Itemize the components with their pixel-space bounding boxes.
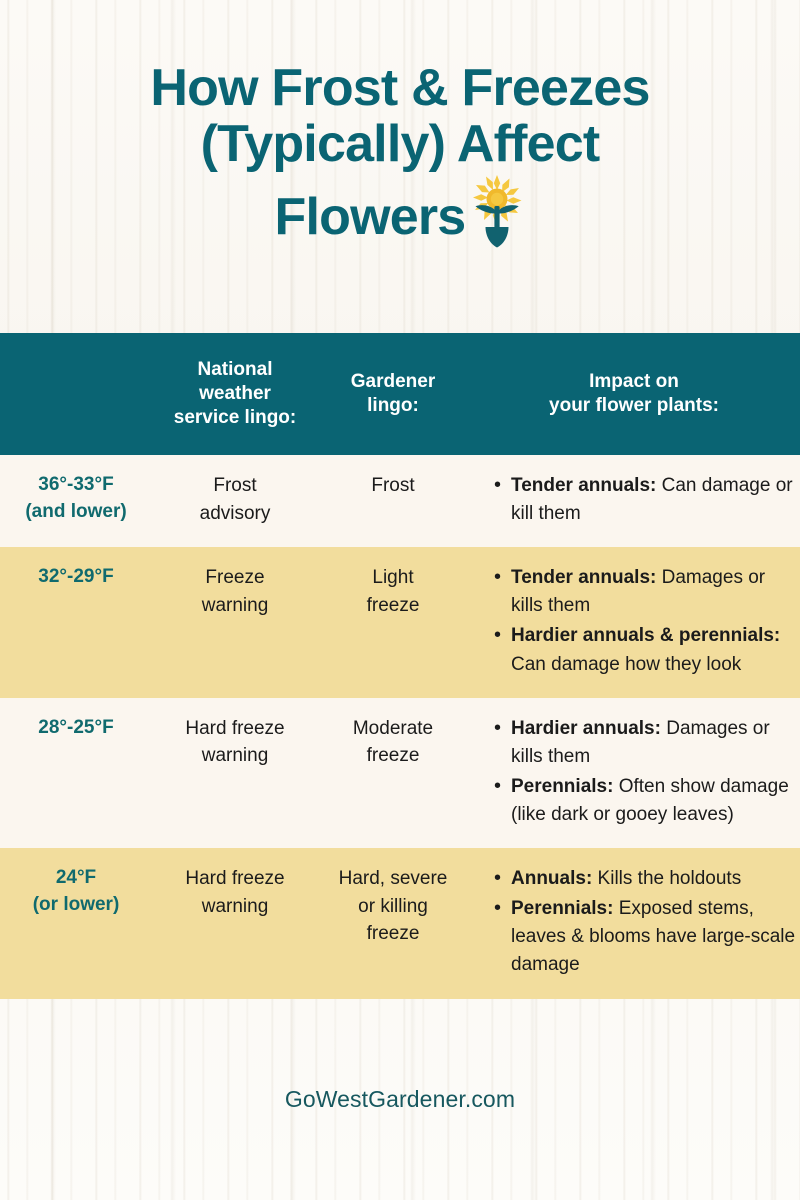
nws-line: advisory (156, 500, 314, 528)
nws-line: warning (156, 893, 314, 921)
impact-list: Tender annuals: Damages or kills them Ha… (472, 564, 796, 678)
nws-line: warning (156, 592, 314, 620)
nws-line: warning (156, 742, 314, 770)
header-line: National (156, 358, 314, 382)
cell-impact: Tender annuals: Can damage or kill them (468, 472, 800, 530)
table-header-row: National weather service lingo: Gardener… (0, 333, 800, 455)
header-line: lingo: (322, 394, 464, 418)
gardener-line: Light (322, 564, 464, 592)
impact-detail: Kills the holdouts (592, 868, 741, 889)
impact-list: Annuals: Kills the holdouts Perennials: … (472, 865, 796, 979)
temperature-line: 24°F (4, 865, 148, 892)
header-line: Gardener (322, 370, 464, 394)
gardener-line: freeze (322, 592, 464, 620)
gardener-line: freeze (322, 742, 464, 770)
nws-line: Hard freeze (156, 865, 314, 893)
list-item: Annuals: Kills the holdouts (494, 865, 796, 893)
header-line: service lingo: (156, 406, 314, 430)
temperature-line: 28°-25°F (4, 715, 148, 742)
sunflower-trowel-icon (471, 172, 525, 259)
cell-temperature: 28°-25°F (0, 715, 152, 742)
list-item: Hardier annuals: Damages or kills them (494, 715, 796, 771)
cell-gardener-lingo: Hard, severe or killing freeze (318, 865, 468, 948)
impact-term: Annuals: (511, 868, 592, 889)
temperature-note: (and lower) (4, 499, 148, 526)
list-item: Perennials: Often show damage (like dark… (494, 773, 796, 829)
site-credit: GoWestGardener.com (285, 1086, 515, 1113)
header-line: Impact on (472, 370, 796, 394)
header-cell-gardener-lingo: Gardener lingo: (318, 370, 468, 419)
cell-impact: Hardier annuals: Damages or kills them P… (468, 715, 800, 831)
frost-effects-table: National weather service lingo: Gardener… (0, 333, 800, 999)
title-area: How Frost & Freezes (Typically) Affect F… (0, 0, 800, 333)
list-item: Tender annuals: Damages or kills them (494, 564, 796, 620)
title-line-1: How Frost & Freezes (150, 59, 649, 117)
impact-term: Hardier annuals & perennials: (511, 625, 780, 646)
header-cell-nws-lingo: National weather service lingo: (152, 358, 318, 431)
table-row: 32°-29°F Freeze warning Light freeze Ten… (0, 547, 800, 697)
gardener-line: Moderate (322, 715, 464, 743)
gardener-line: Hard, severe (322, 865, 464, 893)
impact-term: Tender annuals: (511, 475, 656, 496)
title-line-2: (Typically) Affect (201, 115, 600, 173)
cell-nws-lingo: Hard freeze warning (152, 865, 318, 920)
impact-term: Tender annuals: (511, 567, 656, 588)
cell-temperature: 32°-29°F (0, 564, 152, 591)
impact-term: Hardier annuals: (511, 718, 661, 739)
temperature-line: 32°-29°F (4, 564, 148, 591)
infographic-page: How Frost & Freezes (Typically) Affect F… (0, 0, 800, 1200)
header-line: your flower plants: (472, 394, 796, 418)
impact-list: Hardier annuals: Damages or kills them P… (472, 715, 796, 829)
cell-gardener-lingo: Light freeze (318, 564, 468, 619)
cell-gardener-lingo: Frost (318, 472, 468, 500)
list-item: Perennials: Exposed stems, leaves & bloo… (494, 895, 796, 979)
list-item: Hardier annuals & perennials: Can damage… (494, 622, 796, 678)
cell-nws-lingo: Frost advisory (152, 472, 318, 527)
impact-term: Perennials: (511, 776, 613, 797)
impact-list: Tender annuals: Can damage or kill them (472, 472, 796, 528)
impact-term: Perennials: (511, 898, 613, 919)
gardener-line: freeze (322, 920, 464, 948)
nws-line: Hard freeze (156, 715, 314, 743)
cell-impact: Tender annuals: Damages or kills them Ha… (468, 564, 800, 680)
impact-detail: Can damage how they look (511, 654, 741, 675)
table-row: 36°-33°F (and lower) Frost advisory Fros… (0, 455, 800, 547)
table-row: 28°-25°F Hard freeze warning Moderate fr… (0, 698, 800, 848)
cell-nws-lingo: Hard freeze warning (152, 715, 318, 770)
cell-temperature: 24°F (or lower) (0, 865, 152, 919)
page-title: How Frost & Freezes (Typically) Affect F… (150, 60, 649, 259)
cell-impact: Annuals: Kills the holdouts Perennials: … (468, 865, 800, 981)
nws-line: Freeze (156, 564, 314, 592)
list-item: Tender annuals: Can damage or kill them (494, 472, 796, 528)
header-line: weather (156, 382, 314, 406)
header-cell-impact: Impact on your flower plants: (468, 370, 800, 419)
cell-temperature: 36°-33°F (and lower) (0, 472, 152, 526)
footer: GoWestGardener.com (0, 999, 800, 1200)
title-line-3: Flowers (275, 188, 466, 246)
cell-gardener-lingo: Moderate freeze (318, 715, 468, 770)
temperature-line: 36°-33°F (4, 472, 148, 499)
gardener-line: or killing (322, 893, 464, 921)
cell-nws-lingo: Freeze warning (152, 564, 318, 619)
gardener-line: Frost (322, 472, 464, 500)
table-row: 24°F (or lower) Hard freeze warning Hard… (0, 848, 800, 998)
temperature-note: (or lower) (4, 892, 148, 919)
nws-line: Frost (156, 472, 314, 500)
